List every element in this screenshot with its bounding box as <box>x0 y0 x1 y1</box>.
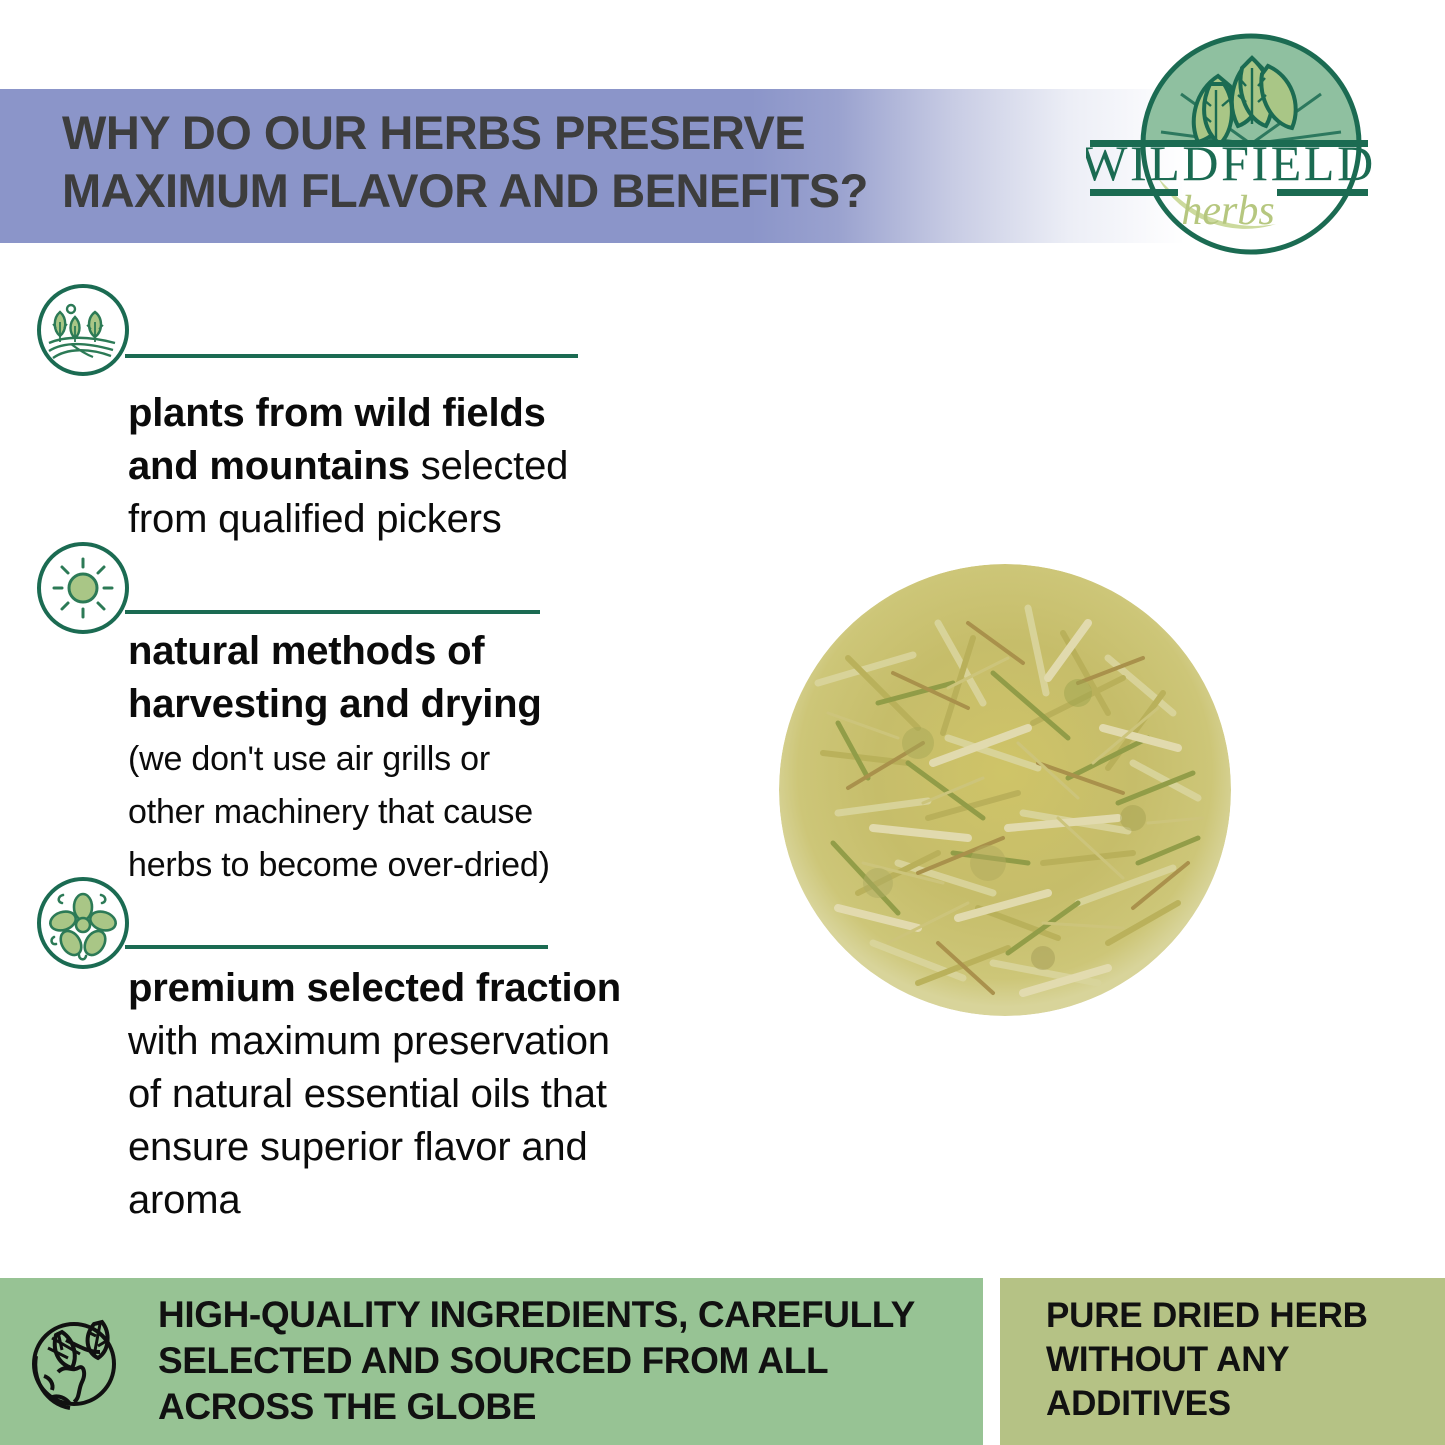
brand-subname: herbs <box>1181 188 1274 234</box>
feature-regular-2: (we don't use air grills or other machin… <box>128 740 550 884</box>
feature-connector-line-3 <box>125 945 548 949</box>
brand-logo: WILDFIELD herbs <box>1086 28 1416 260</box>
banner-left-text: HIGH-QUALITY INGREDIENTS, CAREFULLY SELE… <box>158 1292 958 1430</box>
trees-field-icon <box>37 284 129 376</box>
product-photo <box>778 563 1233 1018</box>
feature-bold-2: natural methods of harvesting and drying <box>128 629 542 726</box>
feature-regular-3: with maximum preservation of natural ess… <box>128 1019 610 1222</box>
brand-name: WILDFIELD <box>1086 135 1376 191</box>
feature-text-1: plants from wild fields and mountains se… <box>128 387 598 546</box>
page-title: WHY DO OUR HERBS PRESERVE MAXIMUM FLAVOR… <box>62 104 1042 220</box>
feature-text-3: premium selected fraction with maximum p… <box>128 962 628 1227</box>
flower-icon <box>37 877 129 969</box>
feature-connector-line-1 <box>125 354 578 358</box>
feature-bold-3: premium selected fraction <box>128 966 621 1010</box>
sun-icon <box>37 542 129 634</box>
banner-right-text: PURE DRIED HERB WITHOUT ANY ADDITIVES <box>1046 1294 1426 1426</box>
feature-connector-line-2 <box>125 610 540 614</box>
globe-leaf-icon <box>22 1294 134 1414</box>
feature-text-2: natural methods of harvesting and drying… <box>128 625 568 890</box>
infographic-canvas: WHY DO OUR HERBS PRESERVE MAXIMUM FLAVOR… <box>0 0 1445 1445</box>
dried-herb-pile-image <box>778 563 1233 1018</box>
